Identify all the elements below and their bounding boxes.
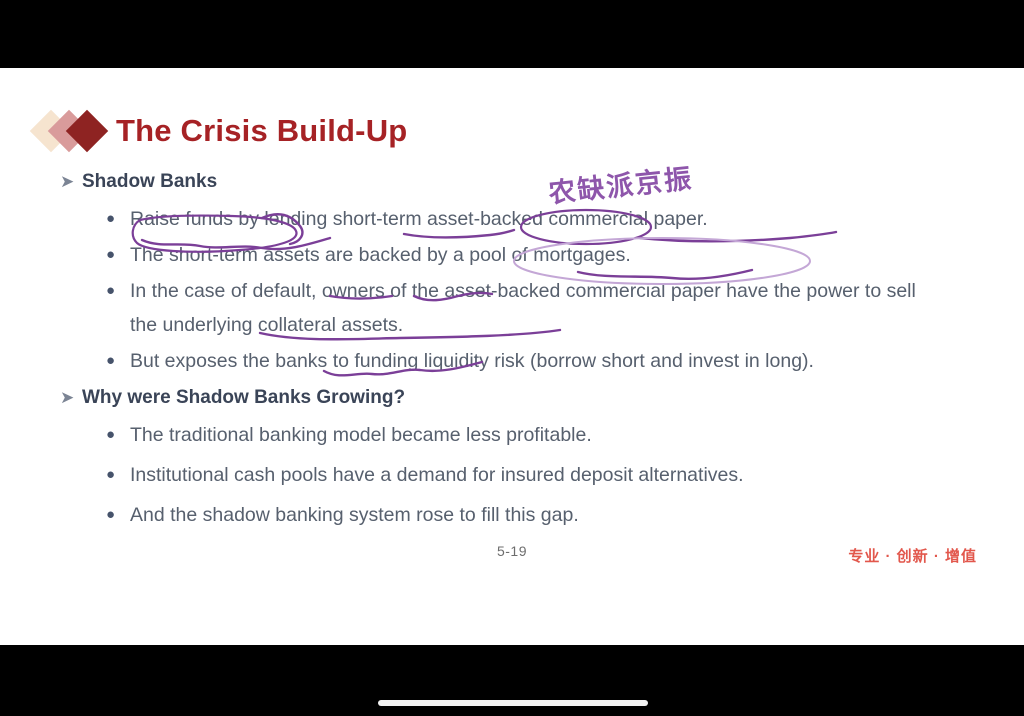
bullet-dot-icon: ● xyxy=(106,238,130,272)
section-heading-why-growing: ➤ Why were Shadow Banks Growing? xyxy=(60,384,1024,412)
list-item: ● The traditional banking model became l… xyxy=(106,418,1024,452)
list-item-label: But exposes the banks to funding liquidi… xyxy=(130,344,814,378)
slide-content: ➤ Shadow Banks ● Raise funds by lending … xyxy=(0,168,1024,534)
home-indicator[interactable] xyxy=(378,700,648,706)
list-item: ● In the case of default, owners of the … xyxy=(106,274,1024,342)
letterbox-top xyxy=(0,0,1024,68)
device-screen: The Crisis Build-Up ➤ Shadow Banks ● Rai… xyxy=(0,0,1024,716)
list-item-label: The short-term assets are backed by a po… xyxy=(130,238,631,272)
bullet-dot-icon: ● xyxy=(106,202,130,236)
bullet-dot-icon: ● xyxy=(106,418,130,452)
list-item: ● But exposes the banks to funding liqui… xyxy=(106,344,1024,378)
section-heading-shadow-banks: ➤ Shadow Banks xyxy=(60,168,1024,196)
brand-slogan: 专业 · 创新 · 增值 xyxy=(848,545,977,566)
bullet-dot-icon: ● xyxy=(106,458,130,492)
bullet-dot-icon: ● xyxy=(106,274,130,308)
slide-title-row: The Crisis Build-Up xyxy=(34,108,407,154)
diamond-decoration-icon xyxy=(34,108,108,154)
list-item-label: The traditional banking model became les… xyxy=(130,418,592,452)
section-heading-label: Shadow Banks xyxy=(82,168,217,196)
list-item-label: In the case of default, owners of the as… xyxy=(130,274,930,342)
section-heading-label: Why were Shadow Banks Growing? xyxy=(82,384,405,412)
list-item-label: Raise funds by lending short-term asset-… xyxy=(130,202,708,236)
list-item: ● And the shadow banking system rose to … xyxy=(106,498,1024,532)
page-title: The Crisis Build-Up xyxy=(116,113,407,149)
arrow-marker-icon: ➤ xyxy=(60,168,82,196)
arrow-marker-icon: ➤ xyxy=(60,384,82,412)
bullet-dot-icon: ● xyxy=(106,498,130,532)
bullet-dot-icon: ● xyxy=(106,344,130,378)
slide-canvas[interactable]: The Crisis Build-Up ➤ Shadow Banks ● Rai… xyxy=(0,68,1024,645)
list-item-label: Institutional cash pools have a demand f… xyxy=(130,458,744,492)
list-item: ● Institutional cash pools have a demand… xyxy=(106,458,1024,492)
list-item-label: And the shadow banking system rose to fi… xyxy=(130,498,579,532)
list-item: ● The short-term assets are backed by a … xyxy=(106,238,1024,272)
